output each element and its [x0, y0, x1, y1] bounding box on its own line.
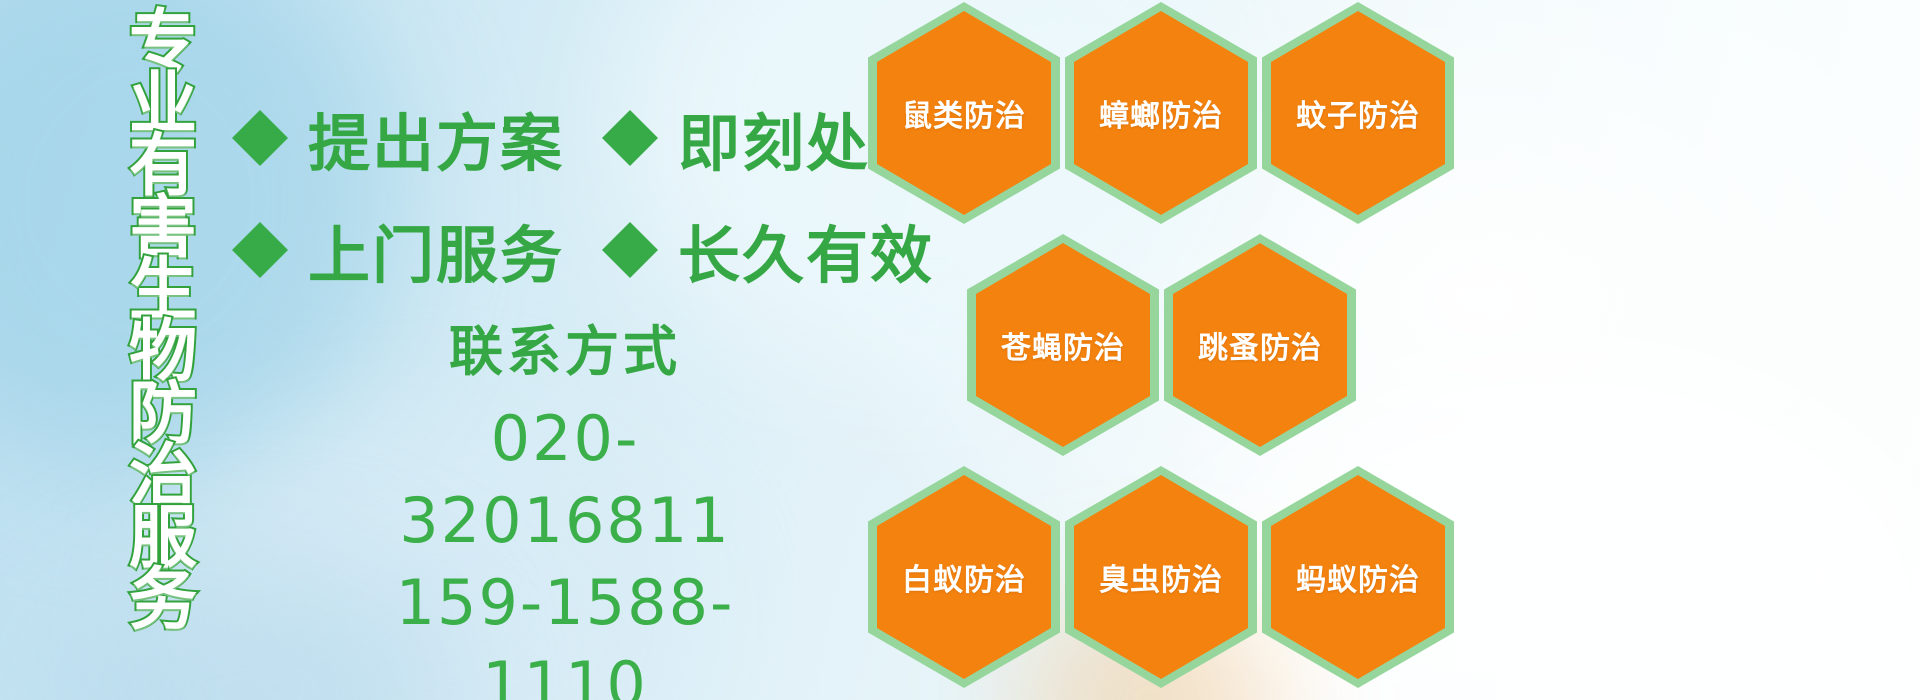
service-honeycomb: 鼠类防治蟑螂防治蚊子防治苍蝇防治跳蚤防治白蚁防治臭虫防治蚂蚁防治 — [862, 0, 1482, 700]
diamond-icon — [232, 82, 288, 138]
service-hexagon-label: 臭虫防治 — [1099, 555, 1223, 599]
phone-mobile[interactable]: 159-1588-1110 — [330, 562, 800, 700]
service-hexagon[interactable]: 跳蚤防治 — [1164, 234, 1356, 456]
contact-title: 联系方式 — [330, 318, 800, 386]
diamond-icon — [602, 82, 658, 138]
diamond-icon — [602, 194, 658, 250]
service-hexagon[interactable]: 白蚁防治 — [868, 466, 1060, 688]
service-hexagon[interactable]: 蚊子防治 — [1262, 2, 1454, 224]
pest-control-banner: 专业有害生物防治服务 提出方案 即刻处理 上门服务 长久有效 联系方式 — [0, 0, 1920, 700]
service-hexagon-label: 跳蚤防治 — [1198, 323, 1322, 367]
service-hexagon-label: 蚊子防治 — [1296, 91, 1420, 135]
service-hexagon-label: 白蚁防治 — [902, 555, 1026, 599]
service-hexagon[interactable]: 蚂蚁防治 — [1262, 466, 1454, 688]
vertical-headline: 专业有害生物防治服务 — [108, 12, 218, 700]
feature-label: 上门服务 — [308, 205, 564, 295]
feature-item: 上门服务 — [232, 205, 564, 295]
phone-landline[interactable]: 020-32016811 — [330, 398, 800, 562]
service-hexagon-label: 鼠类防治 — [902, 91, 1026, 135]
service-hexagon[interactable]: 蟑螂防治 — [1065, 2, 1257, 224]
vertical-headline-char: 务 — [129, 570, 197, 632]
contact-block: 联系方式 020-32016811 159-1588-1110 — [330, 318, 800, 700]
service-hexagon[interactable]: 臭虫防治 — [1065, 466, 1257, 688]
service-hexagon[interactable]: 苍蝇防治 — [967, 234, 1159, 456]
service-hexagon[interactable]: 鼠类防治 — [868, 2, 1060, 224]
service-hexagon-label: 蟑螂防治 — [1099, 91, 1223, 135]
feature-list: 提出方案 即刻处理 上门服务 长久有效 — [232, 82, 934, 306]
feature-row: 上门服务 长久有效 — [232, 194, 934, 306]
service-hexagon-label: 苍蝇防治 — [1001, 323, 1125, 367]
diamond-icon — [232, 194, 288, 250]
feature-label: 提出方案 — [308, 93, 564, 183]
feature-item: 提出方案 — [232, 93, 564, 183]
service-hexagon-label: 蚂蚁防治 — [1296, 555, 1420, 599]
feature-row: 提出方案 即刻处理 — [232, 82, 934, 194]
